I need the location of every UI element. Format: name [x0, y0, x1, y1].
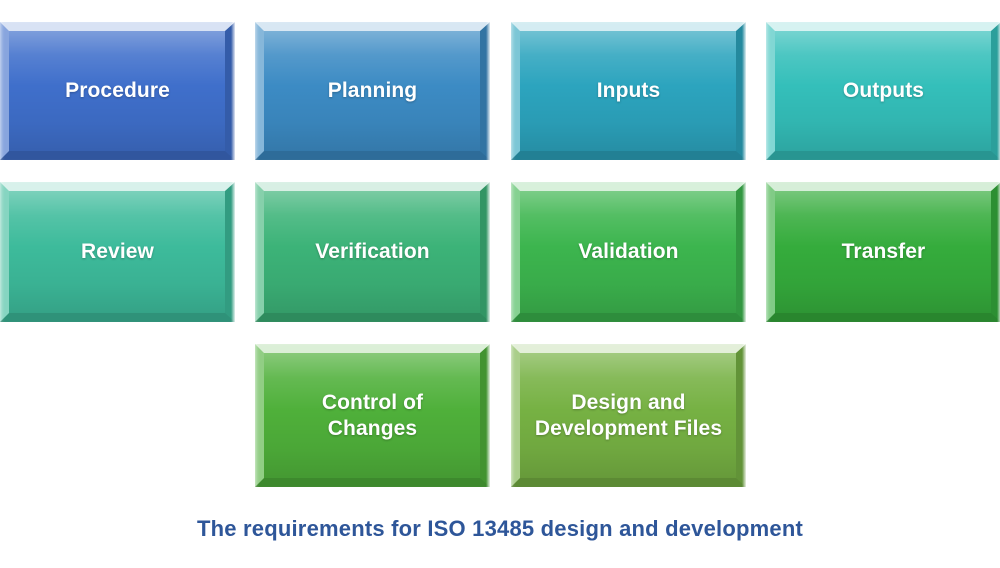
box-edge-highlight	[742, 22, 746, 160]
process-box[interactable]: Planning	[255, 22, 490, 160]
process-box-label: Inputs	[587, 78, 671, 104]
diagram-caption: The requirements for ISO 13485 design an…	[0, 516, 1000, 542]
process-box-label: Transfer	[832, 239, 936, 265]
process-box[interactable]: Inputs	[511, 22, 746, 160]
process-box[interactable]: Transfer	[766, 182, 1000, 322]
box-edge-highlight	[486, 182, 490, 322]
process-box-label: Review	[71, 239, 164, 265]
process-box[interactable]: Outputs	[766, 22, 1000, 160]
box-edge-highlight	[742, 182, 746, 322]
process-box-label: Procedure	[55, 78, 180, 104]
process-box[interactable]: Procedure	[0, 22, 235, 160]
box-edge-highlight	[231, 182, 235, 322]
process-box[interactable]: Verification	[255, 182, 490, 322]
box-edge-highlight	[486, 344, 490, 487]
process-box-label: Control of Changes	[312, 390, 433, 441]
process-diagram: ProcedurePlanningInputsOutputsReviewVeri…	[0, 0, 1000, 568]
process-box[interactable]: Review	[0, 182, 235, 322]
process-box[interactable]: Control of Changes	[255, 344, 490, 487]
process-box-label: Design and Development Files	[525, 390, 732, 441]
process-box-label: Planning	[318, 78, 427, 104]
process-box-label: Verification	[305, 239, 439, 265]
process-box-label: Validation	[568, 239, 688, 265]
box-edge-highlight	[231, 22, 235, 160]
process-box-label: Outputs	[833, 78, 934, 104]
box-edge-highlight	[742, 344, 746, 487]
box-edge-highlight	[486, 22, 490, 160]
process-box[interactable]: Design and Development Files	[511, 344, 746, 487]
process-box[interactable]: Validation	[511, 182, 746, 322]
